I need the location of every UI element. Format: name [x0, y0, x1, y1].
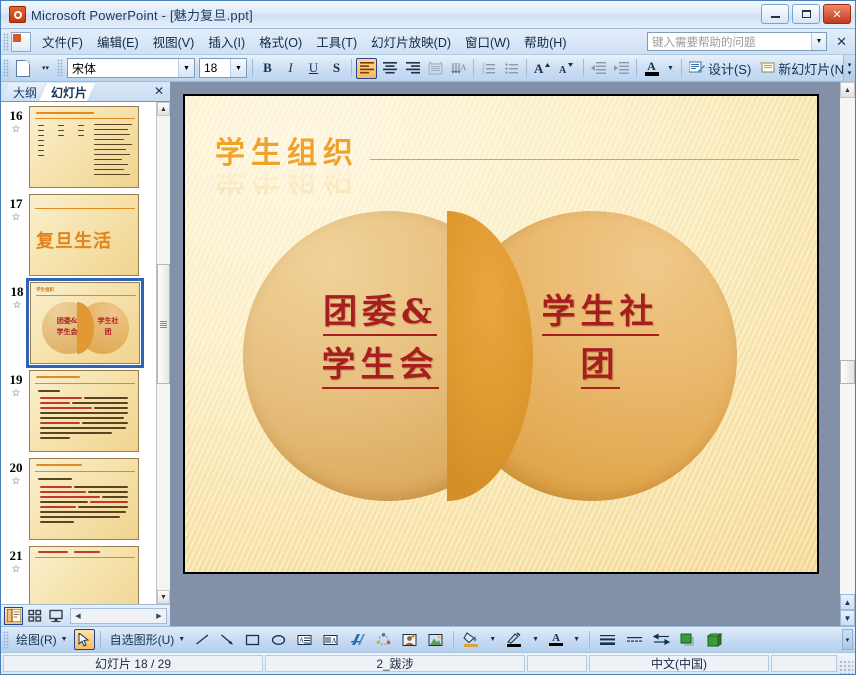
thumbnail-title: 复旦生活: [36, 227, 112, 253]
slide-number: 18: [4, 284, 30, 300]
bold-button[interactable]: B: [257, 58, 278, 79]
align-center-button[interactable]: [379, 58, 400, 79]
fill-color-icon[interactable]: [459, 629, 483, 650]
svg-text:A: A: [559, 65, 567, 75]
divider: [526, 59, 527, 77]
slides-pane: 大纲 幻灯片 ✕ 16 ☆: [1, 82, 171, 626]
select-arrow-icon[interactable]: [74, 629, 95, 650]
font-name-value: 宋体: [68, 60, 178, 77]
powerpoint-icon: [9, 6, 26, 23]
hscrollbar-track[interactable]: [85, 609, 152, 623]
bulleted-list-button[interactable]: [501, 58, 522, 79]
menu-bar: 文件(F) 编辑(E) 视图(V) 插入(I) 格式(O) 工具(T) 幻灯片放…: [1, 29, 855, 55]
resize-grip[interactable]: [839, 660, 853, 674]
thumbnail-scrollbar[interactable]: ▲ ▼: [156, 102, 170, 604]
menu-slideshow[interactable]: 幻灯片放映(D): [364, 29, 458, 54]
text-shadow-button[interactable]: S: [326, 58, 347, 79]
font-color-icon[interactable]: A: [545, 629, 567, 650]
diagram-icon[interactable]: [372, 629, 396, 650]
scrollbar-track[interactable]: [157, 116, 170, 590]
animation-icon[interactable]: ☆: [3, 389, 29, 399]
thumbnail-meta: 16 ☆: [3, 106, 29, 135]
drawbar-gripper[interactable]: [3, 631, 9, 649]
slide-thumbnail[interactable]: [29, 546, 139, 604]
font-color-swatch: [549, 643, 563, 646]
status-spare-1: [527, 655, 587, 672]
distribute-columns-button[interactable]: [425, 58, 446, 79]
menu-file[interactable]: 文件(F): [35, 29, 90, 54]
thumbnail-list: 16 ☆: [1, 102, 156, 604]
view-buttons-bar: ◀ ▶: [1, 604, 170, 626]
slide-thumbnail[interactable]: 复旦生活: [29, 194, 139, 276]
thumbnail-scroll-region: 16 ☆: [1, 102, 170, 604]
slide-thumbnail[interactable]: 学生组织 团委&学生会 学生社团: [30, 282, 140, 364]
status-bar: 幻灯片 18 / 29 2_跋涉 中文(中国): [1, 652, 855, 674]
autoshapes-menu-button[interactable]: 自选图形(U) ▼: [106, 629, 190, 650]
rectangle-icon[interactable]: [241, 629, 265, 650]
italic-button[interactable]: I: [280, 58, 301, 79]
view-normal-button[interactable]: [4, 607, 23, 625]
divider: [351, 59, 352, 77]
menu-edit[interactable]: 编辑(E): [90, 29, 146, 54]
language-indicator[interactable]: 中文(中国): [589, 655, 769, 672]
textbox-icon[interactable]: A: [293, 629, 317, 650]
divider: [589, 631, 590, 649]
slide-number: 20: [3, 460, 29, 476]
scrollbar-thumb[interactable]: [840, 360, 855, 384]
font-color-swatch: [645, 72, 659, 76]
animation-icon[interactable]: ☆: [3, 125, 29, 135]
divider: [681, 59, 682, 77]
autoshapes-label: 自选图形(U): [110, 631, 175, 648]
next-slide-button[interactable]: ▼: [840, 610, 855, 626]
thumbnail-meta: 20 ☆: [3, 458, 29, 487]
thumbnail-meta: 18 ☆: [4, 282, 30, 311]
divider: [583, 59, 584, 77]
menu-format[interactable]: 格式(O): [252, 29, 309, 54]
animation-icon[interactable]: ☆: [3, 213, 29, 223]
venn-right-label[interactable]: 学生社 团: [485, 286, 715, 391]
picture-icon[interactable]: [424, 629, 448, 650]
design-template-name[interactable]: 2_跋涉: [265, 655, 525, 672]
tab-slides[interactable]: 幻灯片: [39, 83, 95, 101]
scroll-left-icon[interactable]: ◀: [71, 609, 85, 623]
thumbnail-meta: 17 ☆: [3, 194, 29, 223]
animation-icon[interactable]: ☆: [3, 477, 29, 487]
slide-counter: 幻灯片 18 / 29: [3, 655, 263, 672]
list-item[interactable]: 20 ☆: [3, 458, 154, 540]
venn-left-line1: 团委&: [323, 292, 437, 336]
toolbar-gripper-2[interactable]: [57, 59, 63, 77]
svg-text:A: A: [332, 637, 337, 645]
slide-number: 16: [3, 108, 29, 124]
menu-gripper[interactable]: [3, 33, 9, 51]
divider: [252, 59, 253, 77]
maximize-button[interactable]: [792, 4, 820, 24]
text-direction-button[interactable]: A: [448, 58, 469, 79]
numbered-list-button[interactable]: 1 2 3: [478, 58, 499, 79]
scrollbar-thumb[interactable]: [157, 264, 170, 384]
font-name-combo[interactable]: 宋体 ▼: [67, 58, 195, 78]
tab-outline[interactable]: 大纲: [1, 83, 45, 101]
oval-icon[interactable]: [267, 629, 291, 650]
help-placeholder: 键入需要帮助的问题: [648, 34, 811, 50]
svg-text:3: 3: [482, 70, 485, 74]
arrow-icon[interactable]: [216, 629, 239, 650]
drawing-toolbar: 绘图(R) ▼ 自选图形(U) ▼ A: [1, 626, 855, 652]
dash-style-icon[interactable]: [622, 629, 647, 650]
chevron-down-icon[interactable]: ▼: [61, 636, 68, 643]
font-size-chevron-down-icon[interactable]: ▼: [230, 59, 246, 77]
workspace: 大纲 幻灯片 ✕ 16 ☆: [1, 82, 855, 626]
help-search-box[interactable]: 键入需要帮助的问题 ▼: [647, 32, 827, 51]
close-button[interactable]: ✕: [823, 4, 851, 24]
slide-number: 19: [3, 372, 29, 388]
view-slide-sorter-button[interactable]: [25, 607, 44, 625]
underline-button[interactable]: U: [303, 58, 324, 79]
slide-thumbnail[interactable]: [29, 458, 139, 540]
chevron-down-icon[interactable]: ▼: [811, 33, 826, 50]
draw-menu-label: 绘图(R): [16, 631, 57, 648]
slide-number: 21: [3, 548, 29, 564]
toolbar-gripper-1[interactable]: [3, 59, 9, 77]
close-document-button[interactable]: ✕: [836, 34, 847, 50]
slide-thumbnail[interactable]: [29, 370, 139, 452]
slide-design-label: 设计(S): [708, 59, 751, 78]
font-size-value: 18: [200, 61, 230, 75]
venn-diagram[interactable]: 团委& 学生会 学生社 团: [185, 96, 817, 572]
thumbnail-meta: 21 ☆: [3, 546, 29, 575]
svg-text:A: A: [461, 63, 467, 72]
line-style-icon[interactable]: [595, 629, 620, 650]
scroll-down-icon[interactable]: ▼: [157, 590, 170, 604]
previous-slide-button[interactable]: ▲: [840, 594, 855, 610]
3d-style-icon[interactable]: [703, 629, 728, 650]
new-slide-label: 新幻灯片(N): [778, 59, 848, 78]
venn-left-label[interactable]: 团委& 学生会: [255, 286, 505, 391]
slide-vertical-scrollbar[interactable]: ▲ ▲ ▼: [839, 82, 855, 626]
scrollbar-grip: [160, 321, 167, 328]
powerpoint-window: Microsoft PowerPoint - [魅力复旦.ppt] ✕ 文件(F…: [0, 0, 856, 675]
window-title: Microsoft PowerPoint - [魅力复旦.ppt]: [31, 5, 253, 24]
svg-text:A: A: [299, 636, 304, 644]
thumbnail-left-text: 团委&学生会: [45, 315, 89, 337]
slide-thumbnail[interactable]: [29, 106, 139, 188]
toolbar-options-overflow-icon[interactable]: ▾▾: [843, 55, 855, 82]
align-right-button[interactable]: [402, 58, 423, 79]
svg-text:A: A: [534, 61, 544, 75]
close-pane-button[interactable]: ✕: [154, 84, 164, 98]
increase-font-size-button[interactable]: A: [531, 58, 554, 79]
scroll-right-icon[interactable]: ▶: [152, 609, 166, 623]
scrollbar-track[interactable]: [840, 98, 855, 594]
slide-number: 17: [3, 196, 29, 212]
document-icon: [11, 32, 31, 52]
formatting-toolbar: ▾▾ 宋体 ▼ 18 ▼ B I U S: [1, 55, 855, 82]
animation-icon[interactable]: ☆: [4, 301, 30, 311]
view-slideshow-button[interactable]: [46, 607, 65, 625]
minimize-button[interactable]: [761, 4, 789, 24]
font-color-button[interactable]: A: [641, 58, 662, 79]
shadow-style-icon[interactable]: [676, 629, 701, 650]
menu-window[interactable]: 窗口(W): [458, 29, 517, 54]
clipart-icon[interactable]: [398, 629, 422, 650]
font-color-chevron-down-icon[interactable]: ▼: [664, 58, 677, 79]
thumbnail-meta: 19 ☆: [3, 370, 29, 399]
thumbnail-right-text: 学生社团: [89, 315, 127, 337]
divider: [100, 631, 101, 649]
slide-edit-area[interactable]: 学生组织 学生组织 团委& 学生会 学生社 团: [171, 82, 855, 626]
list-item[interactable]: 19 ☆: [3, 370, 154, 452]
new-slide-icon[interactable]: [12, 58, 33, 79]
horizontal-scrollbar[interactable]: ◀ ▶: [70, 608, 167, 624]
menu-tools[interactable]: 工具(T): [309, 29, 364, 54]
line-icon[interactable]: [191, 629, 214, 650]
drawing-toolbar-overflow-icon[interactable]: ▾: [842, 629, 853, 650]
pane-tab-strip: 大纲 幻灯片 ✕: [1, 82, 170, 102]
align-left-button[interactable]: [356, 58, 377, 79]
toolbar-options-1-icon[interactable]: ▾▾: [35, 58, 56, 79]
decrease-font-size-button[interactable]: A: [556, 58, 579, 79]
vertical-textbox-icon[interactable]: A: [319, 629, 343, 650]
decrease-indent-button[interactable]: [588, 58, 609, 79]
window-controls: ✕: [761, 4, 851, 24]
font-size-combo[interactable]: 18 ▼: [199, 58, 247, 78]
divider: [636, 59, 637, 77]
list-item[interactable]: 17 ☆ 复旦生活: [3, 194, 154, 276]
list-item[interactable]: 21 ☆: [3, 546, 154, 604]
scroll-up-icon[interactable]: ▲: [157, 102, 170, 116]
venn-right-line2: 团: [581, 345, 620, 389]
divider: [453, 631, 454, 649]
line-color-icon[interactable]: [502, 629, 526, 650]
slide-design-button[interactable]: 设计(S): [686, 58, 754, 79]
line-color-chevron-down-icon[interactable]: ▼: [528, 629, 543, 650]
menu-insert[interactable]: 插入(I): [201, 29, 252, 54]
menu-help[interactable]: 帮助(H): [517, 29, 573, 54]
fill-color-swatch: [464, 644, 478, 647]
title-bar: Microsoft PowerPoint - [魅力复旦.ppt] ✕: [1, 1, 855, 29]
font-name-chevron-down-icon[interactable]: ▼: [178, 59, 194, 77]
increase-indent-button[interactable]: [611, 58, 632, 79]
line-color-swatch: [507, 644, 521, 647]
venn-right-line1: 学生社: [542, 292, 659, 336]
scroll-up-icon[interactable]: ▲: [840, 82, 855, 98]
venn-left-line2: 学生会: [322, 345, 439, 389]
current-slide[interactable]: 学生组织 学生组织 团委& 学生会 学生社 团: [183, 94, 819, 574]
fill-color-chevron-down-icon[interactable]: ▼: [485, 629, 500, 650]
font-color-letter: A: [647, 61, 656, 72]
font-color-chevron-down-icon[interactable]: ▼: [569, 629, 584, 650]
thumbnail-title: 学生组织: [36, 287, 54, 293]
menu-view[interactable]: 视图(V): [146, 29, 202, 54]
divider: [473, 59, 474, 77]
list-item[interactable]: 18 ☆ 学生组织 团委&学生会 学生社团: [3, 282, 154, 364]
animation-icon[interactable]: ☆: [3, 565, 29, 575]
status-spare-2: [771, 655, 837, 672]
draw-menu-button[interactable]: 绘图(R) ▼: [12, 629, 72, 650]
wordart-icon[interactable]: [345, 629, 370, 650]
list-item[interactable]: 16 ☆: [3, 106, 154, 188]
chevron-down-icon[interactable]: ▼: [178, 636, 185, 643]
arrow-style-icon[interactable]: [649, 629, 674, 650]
new-slide-button[interactable]: 新幻灯片(N): [756, 58, 851, 79]
